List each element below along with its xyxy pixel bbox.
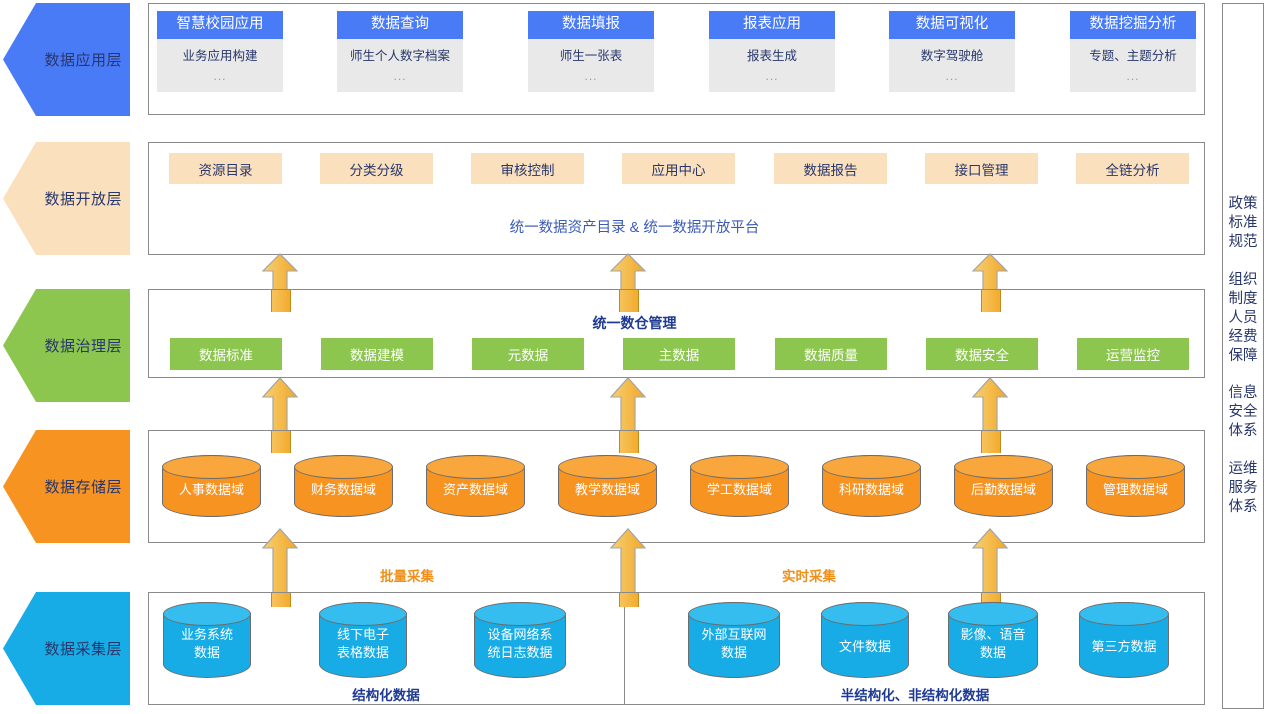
collection-caption-unstructured: 半结构化、非结构化数据: [625, 684, 1205, 704]
collection-source-cylinder[interactable]: 外部互联网 数据: [688, 602, 780, 678]
open-chip[interactable]: 全链分析: [1076, 153, 1189, 184]
governance-chip-label: 主数据: [659, 344, 700, 364]
collection-source-label: 外部互联网 数据: [701, 618, 766, 661]
data-domain-cylinder[interactable]: 管理数据域: [1086, 455, 1185, 517]
rail-line: 经费: [1229, 328, 1258, 347]
data-domain-label: 学工数据域: [707, 473, 772, 499]
governance-chip-label: 数据质量: [804, 344, 858, 364]
open-chip-label: 数据报告: [804, 159, 858, 179]
data-domain-label: 教学数据域: [575, 473, 640, 499]
layer-chevron-label: 数据存储层: [44, 476, 122, 497]
app-card-body: 师生一张表 ...: [528, 39, 654, 92]
data-domain-label: 资产数据域: [443, 473, 508, 499]
app-card-body: 师生个人数字档案 ...: [337, 39, 463, 92]
source-line-2: 数据: [181, 644, 233, 662]
source-line-2: 统日志数据: [487, 644, 552, 662]
open-chip[interactable]: 资源目录: [169, 153, 282, 184]
data-domain-label: 管理数据域: [1103, 473, 1168, 499]
open-chip-label: 分类分级: [350, 159, 404, 179]
app-card-body: 业务应用构建 ...: [157, 39, 283, 92]
cylinder-top: [1079, 602, 1169, 626]
governance-chip-label: 数据建模: [350, 344, 404, 364]
source-line-1: 第三方数据: [1091, 638, 1156, 656]
layer-chevron-storage[interactable]: 数据存储层: [3, 430, 130, 543]
collection-source-cylinder[interactable]: 第三方数据: [1079, 602, 1169, 678]
open-chip[interactable]: 接口管理: [925, 153, 1038, 184]
app-card-desc: 数字驾驶舱: [921, 49, 984, 63]
layer-chevron-governance[interactable]: 数据治理层: [3, 289, 130, 402]
rail-line: 安全: [1229, 403, 1258, 422]
rail-line: 组织: [1229, 271, 1258, 290]
open-chip[interactable]: 审核控制: [471, 153, 584, 184]
rail-line: 体系: [1229, 422, 1258, 441]
rail-line: 人员: [1229, 309, 1258, 328]
layer-chevron-application[interactable]: 数据应用层: [3, 3, 130, 116]
rail-line: 政策: [1229, 195, 1258, 214]
app-card-title: 报表应用: [709, 11, 835, 39]
data-domain-label: 人事数据域: [179, 473, 244, 499]
source-line-1: 外部互联网: [701, 626, 766, 644]
collection-source-label: 业务系统 数据: [181, 618, 233, 661]
rail-line: 信息: [1229, 384, 1258, 403]
governance-chip-label: 数据安全: [955, 344, 1009, 364]
source-line-1: 业务系统: [181, 626, 233, 644]
collection-source-cylinder[interactable]: 文件数据: [821, 602, 909, 678]
flow-arrow-up: [972, 377, 1008, 432]
open-chip[interactable]: 数据报告: [774, 153, 887, 184]
rail-group-operations[interactable]: 运维 服务 体系: [1229, 460, 1258, 517]
flow-arrow-up: [610, 528, 646, 596]
app-card-more: ...: [157, 70, 283, 82]
source-line-2: 数据: [960, 644, 1025, 662]
open-chip-label: 审核控制: [501, 159, 555, 179]
cylinder-top: [821, 602, 909, 626]
rail-group-policy[interactable]: 政策 标准 规范: [1229, 195, 1258, 252]
data-domain-cylinder[interactable]: 科研数据域: [822, 455, 921, 517]
app-card-title: 智慧校园应用: [157, 11, 283, 39]
governance-chip[interactable]: 数据安全: [926, 338, 1038, 370]
governance-chip-label: 元数据: [508, 344, 549, 364]
app-card-desc: 报表生成: [747, 49, 797, 63]
application-layer-panel: [148, 3, 1205, 115]
rail-line: 标准: [1229, 214, 1258, 233]
flow-arrow-up: [972, 528, 1008, 596]
app-card-title: 数据查询: [337, 11, 463, 39]
governance-chip-label: 数据标准: [199, 344, 253, 364]
governance-chip-label: 运营监控: [1106, 344, 1160, 364]
data-domain-cylinder[interactable]: 教学数据域: [558, 455, 657, 517]
data-domain-cylinder[interactable]: 后勤数据域: [954, 455, 1053, 517]
governance-chip[interactable]: 数据质量: [775, 338, 887, 370]
collection-source-cylinder[interactable]: 业务系统 数据: [163, 602, 251, 678]
arrow-stub: [619, 431, 639, 453]
layer-chevron-label: 数据开放层: [44, 188, 122, 209]
data-domain-label: 科研数据域: [839, 473, 904, 499]
arrow-stub: [271, 431, 291, 453]
source-line-2: 表格数据: [337, 644, 389, 662]
governance-caption: 统一数仓管理: [0, 313, 1269, 333]
supporting-systems-rail: 政策 标准 规范 组织 制度 人员 经费 保障 信息 安全 体系 运维 服务 体…: [1222, 3, 1264, 709]
governance-chip[interactable]: 数据标准: [170, 338, 282, 370]
data-domain-cylinder[interactable]: 人事数据域: [162, 455, 261, 517]
app-card-body: 数字驾驶舱 ...: [889, 39, 1015, 92]
rail-group-security[interactable]: 信息 安全 体系: [1229, 384, 1258, 441]
governance-chip[interactable]: 元数据: [472, 338, 584, 370]
arrow-stub: [271, 290, 291, 312]
open-chip[interactable]: 应用中心: [622, 153, 735, 184]
source-line-1: 线下电子: [337, 626, 389, 644]
rail-line: 服务: [1229, 479, 1258, 498]
collection-source-label: 第三方数据: [1091, 624, 1156, 656]
layer-chevron-label: 数据应用层: [44, 49, 122, 70]
app-card-more: ...: [528, 70, 654, 82]
app-card-title: 数据填报: [528, 11, 654, 39]
acquisition-label-batch: 批量采集: [380, 565, 434, 585]
arrow-stub: [619, 593, 639, 607]
source-line-1: 文件数据: [839, 638, 891, 656]
app-card-desc: 专题、主题分析: [1089, 49, 1177, 63]
app-card[interactable]: 报表应用 报表生成 ...: [709, 11, 835, 92]
app-card[interactable]: 数据填报 师生一张表 ...: [528, 11, 654, 92]
collection-source-label: 设备网络系 统日志数据: [487, 618, 552, 661]
app-card-body: 专题、主题分析 ...: [1070, 39, 1196, 92]
collection-caption-structured: 结构化数据: [148, 684, 624, 704]
open-chip[interactable]: 分类分级: [320, 153, 433, 184]
collection-source-cylinder[interactable]: 线下电子 表格数据: [319, 602, 407, 678]
app-card-more: ...: [889, 70, 1015, 82]
open-chip-label: 全链分析: [1106, 159, 1160, 179]
data-domain-cylinder[interactable]: 资产数据域: [426, 455, 525, 517]
data-domain-cylinder[interactable]: 财务数据域: [294, 455, 393, 517]
data-domain-label: 财务数据域: [311, 473, 376, 499]
governance-chip[interactable]: 运营监控: [1077, 338, 1189, 370]
app-card-title: 数据可视化: [889, 11, 1015, 39]
data-domain-cylinder[interactable]: 学工数据域: [690, 455, 789, 517]
rail-group-organization[interactable]: 组织 制度 人员 经费 保障: [1229, 271, 1258, 367]
source-line-2: 数据: [701, 644, 766, 662]
arrow-stub: [981, 290, 1001, 312]
collection-source-label: 文件数据: [839, 624, 891, 656]
open-chip-label: 应用中心: [652, 159, 706, 179]
governance-chip[interactable]: 数据建模: [321, 338, 433, 370]
app-card[interactable]: 智慧校园应用 业务应用构建 ...: [157, 11, 283, 92]
app-card[interactable]: 数据查询 师生个人数字档案 ...: [337, 11, 463, 92]
layer-chevron-open[interactable]: 数据开放层: [3, 142, 130, 255]
app-card-more: ...: [337, 70, 463, 82]
app-card-desc: 师生一张表: [560, 49, 623, 63]
open-chip-label: 接口管理: [955, 159, 1009, 179]
collection-source-label: 线下电子 表格数据: [337, 618, 389, 661]
rail-line: 规范: [1229, 233, 1258, 252]
app-card-body: 报表生成 ...: [709, 39, 835, 92]
app-card[interactable]: 数据可视化 数字驾驶舱 ...: [889, 11, 1015, 92]
app-card[interactable]: 数据挖掘分析 专题、主题分析 ...: [1070, 11, 1196, 92]
layer-chevron-label: 数据采集层: [44, 638, 122, 659]
arrow-stub: [981, 431, 1001, 453]
collection-source-cylinder[interactable]: 影像、语音 数据: [948, 602, 1038, 678]
app-card-desc: 业务应用构建: [182, 49, 257, 63]
source-line-1: 设备网络系: [487, 626, 552, 644]
governance-chip[interactable]: 主数据: [623, 338, 735, 370]
arrow-stub: [271, 593, 291, 607]
app-card-more: ...: [709, 70, 835, 82]
collection-source-label: 影像、语音 数据: [960, 618, 1025, 661]
rail-line: 保障: [1229, 347, 1258, 366]
app-card-title: 数据挖掘分析: [1070, 11, 1196, 39]
source-line-1: 影像、语音: [960, 626, 1025, 644]
flow-arrow-up: [262, 377, 298, 432]
flow-arrow-up: [262, 528, 298, 596]
app-card-desc: 师生个人数字档案: [350, 49, 450, 63]
arrow-stub: [619, 290, 639, 312]
acquisition-label-realtime: 实时采集: [782, 565, 836, 585]
open-platform-caption: 统一数据资产目录 & 统一数据开放平台: [0, 216, 1269, 237]
collection-source-cylinder[interactable]: 设备网络系 统日志数据: [474, 602, 566, 678]
rail-line: 运维: [1229, 460, 1258, 479]
layer-chevron-label: 数据治理层: [44, 335, 122, 356]
data-domain-label: 后勤数据域: [971, 473, 1036, 499]
flow-arrow-up: [610, 377, 646, 432]
architecture-diagram: 数据应用层 数据开放层 数据治理层 数据存储层 数据采集层 智慧校园应用 业务应…: [0, 0, 1269, 714]
rail-line: 制度: [1229, 290, 1258, 309]
app-card-more: ...: [1070, 70, 1196, 82]
open-chip-label: 资源目录: [199, 159, 253, 179]
layer-chevron-collection[interactable]: 数据采集层: [3, 592, 130, 705]
rail-line: 体系: [1229, 498, 1258, 517]
